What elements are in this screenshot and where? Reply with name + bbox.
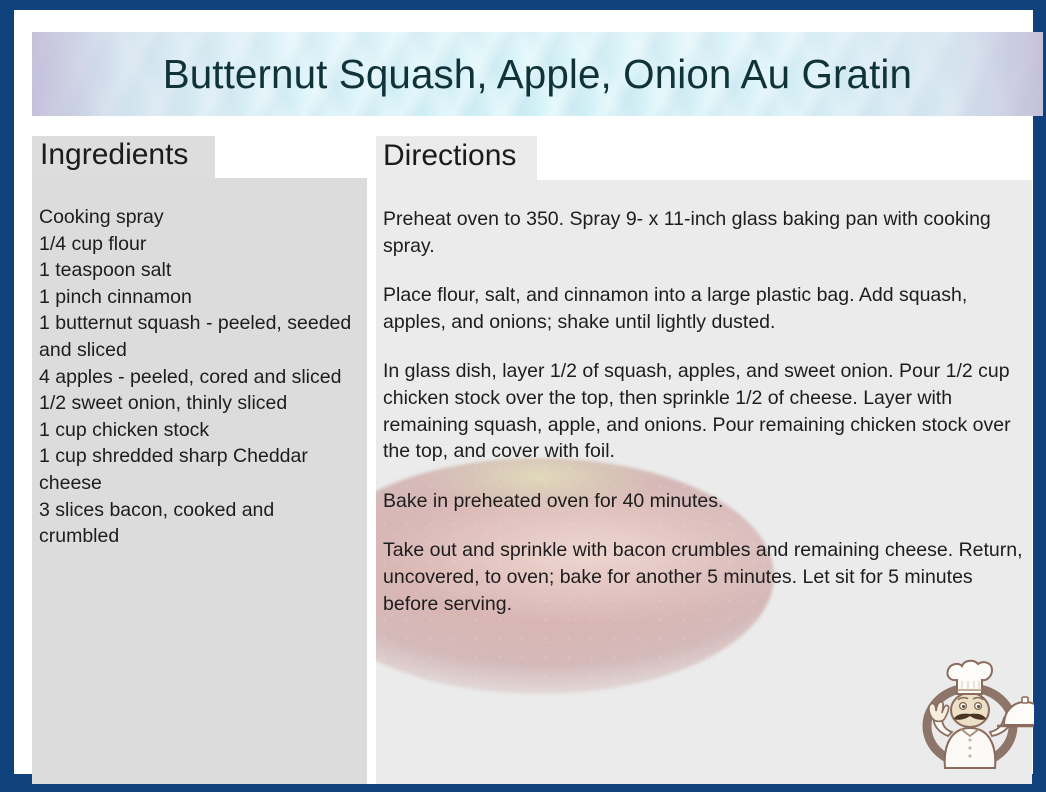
ingredients-section-tab: Ingredients [32,136,215,178]
slide-frame: Butternut Squash, Apple, Onion Au Gratin… [0,0,1046,792]
recipe-title: Butternut Squash, Apple, Onion Au Gratin [163,51,912,98]
ingredients-heading: Ingredients [40,138,188,172]
direction-step: Bake in preheated oven for 40 minutes. [383,488,1028,515]
title-banner: Butternut Squash, Apple, Onion Au Gratin [32,32,1043,116]
directions-steps-list: Preheat oven to 350. Spray 9- x 11-inch … [383,206,1028,640]
ingredients-panel: Cooking spray1/4 cup flour1 teaspoon sal… [32,178,367,784]
directions-section-tab: Directions [376,136,537,180]
ingredient-item: 1 butternut squash - peeled, seeded and … [39,310,359,363]
ingredient-item: 4 apples - peeled, cored and sliced [39,364,359,391]
chef-waving-hand-icon [929,702,949,722]
ingredient-item: 1/4 cup flour [39,231,359,258]
direction-step: Preheat oven to 350. Spray 9- x 11-inch … [383,206,1028,259]
direction-step: Take out and sprinkle with bacon crumble… [383,537,1028,617]
directions-heading: Directions [383,139,516,173]
page-surface: Butternut Squash, Apple, Onion Au Gratin… [14,10,1033,774]
chef-with-serving-dome-logo [912,656,1034,778]
ingredient-item: 3 slices bacon, cooked and crumbled [39,497,359,550]
ingredient-item: 1 cup chicken stock [39,417,359,444]
ingredient-item: 1/2 sweet onion, thinly sliced [39,390,359,417]
direction-step: Place flour, salt, and cinnamon into a l… [383,282,1028,335]
ingredient-item: 1 teaspoon salt [39,257,359,284]
ingredient-item: 1 pinch cinnamon [39,284,359,311]
ingredient-item: 1 cup shredded sharp Cheddar cheese [39,443,359,496]
direction-step: In glass dish, layer 1/2 of squash, appl… [383,358,1028,464]
chef-head-icon [951,693,989,727]
panel-gutter-divider [367,178,376,784]
ingredient-item: Cooking spray [39,204,359,231]
ingredients-list: Cooking spray1/4 cup flour1 teaspoon sal… [39,204,359,550]
